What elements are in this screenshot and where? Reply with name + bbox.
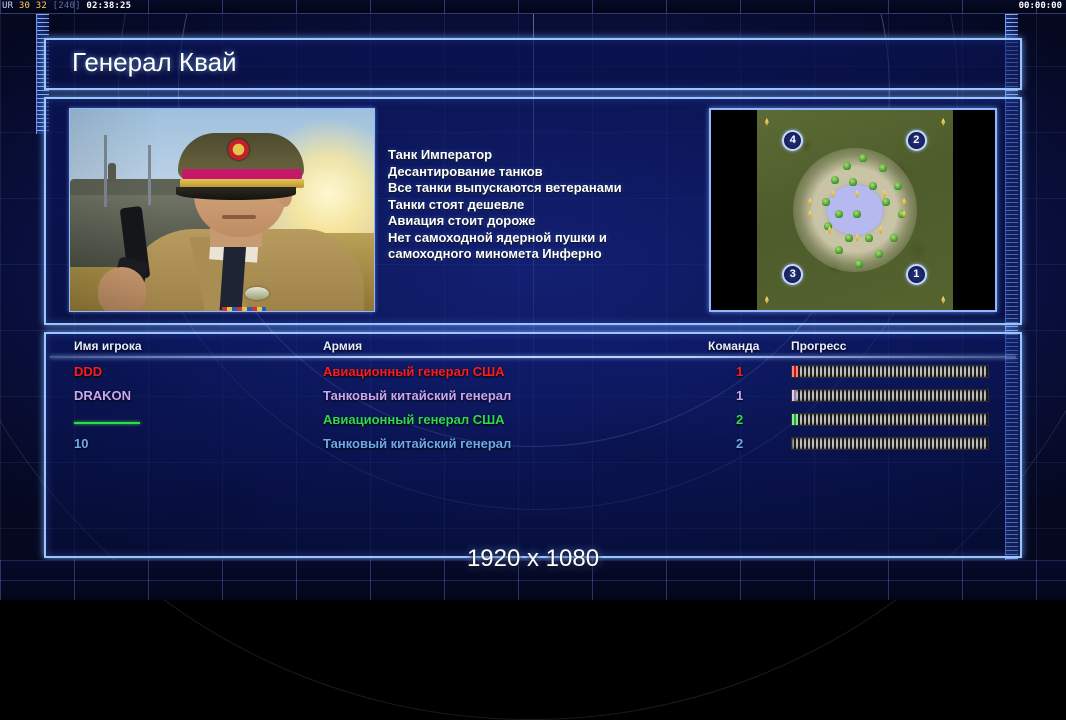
player-name: DDD — [74, 364, 102, 379]
minimap-tree — [865, 234, 873, 242]
readout-value-1: 30 — [19, 1, 30, 11]
resolution-overlay: 1920 x 1080 — [0, 545, 1066, 573]
player-team: 2 — [736, 412, 743, 427]
player-army: Танковый китайский генерал — [323, 436, 511, 451]
session-clock: 00:00:00 — [1019, 1, 1062, 11]
performance-readout: UR 30 32 [240] 02:38:25 — [2, 1, 131, 11]
table-row[interactable]: 10Танковый китайский генерал2 — [46, 432, 1020, 456]
player-progress-bar — [791, 389, 989, 402]
minimap-tree — [890, 234, 898, 242]
player-table-panel: Имя игрока Армия Команда Прогресс DDDАви… — [44, 332, 1022, 558]
minimap-tree — [855, 260, 863, 268]
desc-line-0: Танк Император — [388, 147, 688, 164]
desc-line-1: Десантирование танков — [388, 164, 688, 181]
general-info-panel: Танк Император Десантирование танков Все… — [44, 97, 1022, 325]
minimap-start-2: 2 — [906, 130, 927, 151]
minimap-tree — [849, 178, 857, 186]
minimap-tree — [822, 198, 830, 206]
desc-line-2: Все танки выпускаются ветеранами — [388, 180, 688, 197]
player-team: 1 — [736, 364, 743, 379]
minimap-tree — [843, 162, 851, 170]
desc-line-5: Нет самоходной ядерной пушки и — [388, 230, 688, 247]
table-header-divider — [50, 356, 1016, 358]
readout-bracket: [240] — [53, 1, 81, 11]
main-frame: Генерал Квай — [44, 38, 1022, 558]
desc-line-6: самоходного миномета Инферно — [388, 246, 688, 263]
table-row[interactable]: DRAKONТанковый китайский генерал1 — [46, 384, 1020, 408]
player-name — [74, 422, 140, 424]
player-army: Танковый китайский генерал — [323, 388, 511, 403]
player-name: 10 — [74, 436, 88, 451]
minimap-start-1: 1 — [906, 264, 927, 285]
column-header-progress: Прогресс — [791, 339, 846, 353]
title-panel: Генерал Квай — [44, 38, 1022, 90]
player-progress-fill — [792, 390, 796, 401]
minimap-tree — [894, 182, 902, 190]
minimap-tree — [835, 246, 843, 254]
column-header-name: Имя игрока — [74, 339, 142, 353]
table-header-row: Имя игрока Армия Команда Прогресс — [46, 336, 1020, 358]
minimap-tree — [875, 250, 883, 258]
general-portrait — [69, 108, 375, 312]
desc-line-3: Танки стоят дешевле — [388, 197, 688, 214]
player-army: Авиационный генерал США — [323, 364, 505, 379]
player-name: DRAKON — [74, 388, 131, 403]
player-team: 2 — [736, 436, 743, 451]
player-team: 1 — [736, 388, 743, 403]
readout-label: UR — [2, 1, 13, 11]
readout-value-2: 32 — [36, 1, 47, 11]
general-description: Танк Император Десантирование танков Все… — [388, 147, 688, 263]
player-progress-bar — [791, 437, 989, 450]
player-progress-bar — [791, 413, 989, 426]
minimap-tree — [835, 210, 843, 218]
table-row[interactable]: DDDАвиационный генерал США1 — [46, 360, 1020, 384]
column-header-team: Команда — [708, 339, 759, 353]
minimap-tree — [859, 154, 867, 162]
portrait-vignette — [70, 109, 374, 311]
player-army: Авиационный генерал США — [323, 412, 505, 427]
table-row[interactable]: Авиационный генерал США2 — [46, 408, 1020, 432]
minimap[interactable]: 4231 — [709, 108, 997, 312]
minimap-tree — [879, 164, 887, 172]
minimap-tree — [845, 234, 853, 242]
minimap-tree — [853, 210, 861, 218]
top-bar-grid — [0, 0, 1066, 13]
player-progress-bar — [791, 365, 989, 378]
desc-line-4: Авиация стоит дороже — [388, 213, 688, 230]
minimap-tree — [869, 182, 877, 190]
top-status-bar: UR 30 32 [240] 02:38:25 00:00:00 — [0, 0, 1066, 14]
player-progress-fill — [792, 366, 798, 377]
page-title: Генерал Квай — [72, 47, 237, 78]
minimap-tree — [882, 198, 890, 206]
readout-time: 02:38:25 — [86, 1, 131, 11]
column-header-army: Армия — [323, 339, 362, 353]
minimap-tree — [831, 176, 839, 184]
player-progress-fill — [792, 414, 798, 425]
